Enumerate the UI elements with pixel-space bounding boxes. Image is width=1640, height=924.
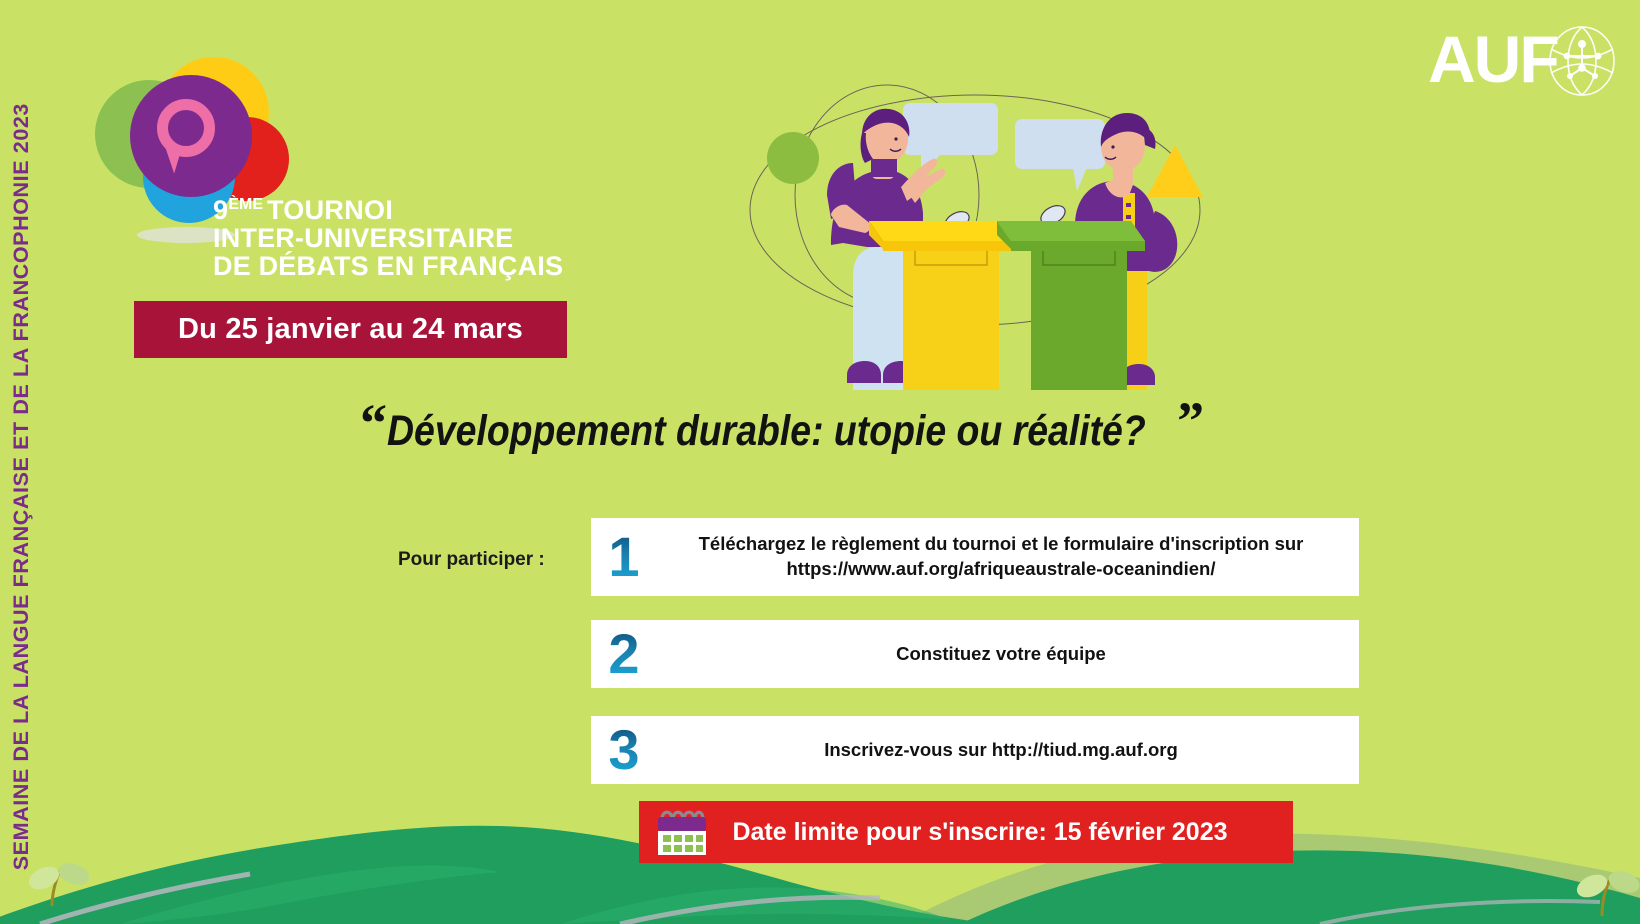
slogan-text: Développement durable: utopie ou réalité… bbox=[387, 407, 1146, 456]
debate-illustration bbox=[735, 35, 1215, 390]
step-1-line-1: Téléchargez le règlement du tournoi et l… bbox=[657, 532, 1345, 557]
quote-open-mark: “ bbox=[360, 398, 387, 449]
step-1-url[interactable]: https://www.auf.org/afriqueaustrale-ocea… bbox=[657, 557, 1345, 582]
participate-label: Pour participer : bbox=[398, 549, 588, 571]
date-banner: Du 25 janvier au 24 mars bbox=[134, 301, 567, 358]
step-number-1: 1 bbox=[591, 529, 657, 585]
deadline-text: Date limite pour s'inscrire: 15 février … bbox=[711, 818, 1293, 847]
title-tournoi: TOURNOI bbox=[267, 195, 393, 225]
podium-green bbox=[997, 221, 1145, 390]
auf-wordmark: AUF bbox=[1428, 26, 1558, 92]
speech-bubble-left bbox=[903, 103, 998, 180]
step-3-line-wrap: Inscrivez-vous sur http://tiud.mg.auf.or… bbox=[657, 739, 1345, 761]
step-body-2: Constituez votre équipe bbox=[657, 643, 1359, 665]
title-ordinal: 9 bbox=[213, 195, 228, 225]
title-line-3: DE DÉBATS EN FRANÇAIS bbox=[213, 252, 563, 280]
speech-bubble-right bbox=[1015, 119, 1105, 191]
step-row-1: 1 Téléchargez le règlement du tournoi et… bbox=[591, 518, 1359, 596]
yellow-triangle bbox=[1147, 145, 1203, 197]
globe-network-icon bbox=[1546, 24, 1618, 98]
page-title: 9ÈMETOURNOI INTER-UNIVERSITAIRE DE DÉBAT… bbox=[213, 196, 563, 280]
vertical-banner: SEMAINE DE LA LANGUE FRANÇAISE ET DE LA … bbox=[0, 40, 44, 870]
vertical-banner-text: SEMAINE DE LA LANGUE FRANÇAISE ET DE LA … bbox=[9, 103, 34, 870]
title-line-1: 9ÈMETOURNOI bbox=[213, 196, 563, 224]
step-body-1: Téléchargez le règlement du tournoi et l… bbox=[657, 532, 1359, 582]
auf-logo: AUF bbox=[1428, 22, 1618, 102]
step-3-url[interactable]: http://tiud.mg.auf.org bbox=[992, 739, 1178, 760]
green-dot bbox=[767, 132, 819, 184]
date-banner-text: Du 25 janvier au 24 mars bbox=[178, 313, 523, 346]
calendar-icon bbox=[653, 805, 711, 859]
deadline-banner: Date limite pour s'inscrire: 15 février … bbox=[639, 801, 1293, 863]
slogan: “ Développement durable: utopie ou réali… bbox=[360, 398, 1260, 460]
step-body-3: Inscrivez-vous sur http://tiud.mg.auf.or… bbox=[657, 739, 1359, 761]
step-2-line-1: Constituez votre équipe bbox=[657, 643, 1345, 665]
speech-bubble-icon bbox=[157, 99, 227, 169]
speech-bubble-ring bbox=[157, 99, 215, 157]
step-3-line-1: Inscrivez-vous sur bbox=[824, 739, 992, 760]
step-row-2: 2 Constituez votre équipe bbox=[591, 620, 1359, 688]
quote-close-mark: ” bbox=[1177, 396, 1204, 447]
title-line-2: INTER-UNIVERSITAIRE bbox=[213, 224, 563, 252]
step-number-2: 2 bbox=[591, 626, 657, 682]
title-ordinal-suffix: ÈME bbox=[228, 196, 263, 213]
poster-canvas: SEMAINE DE LA LANGUE FRANÇAISE ET DE LA … bbox=[0, 0, 1640, 924]
calendar-header bbox=[658, 817, 706, 831]
step-row-3: 3 Inscrivez-vous sur http://tiud.mg.auf.… bbox=[591, 716, 1359, 784]
step-number-3: 3 bbox=[591, 722, 657, 778]
